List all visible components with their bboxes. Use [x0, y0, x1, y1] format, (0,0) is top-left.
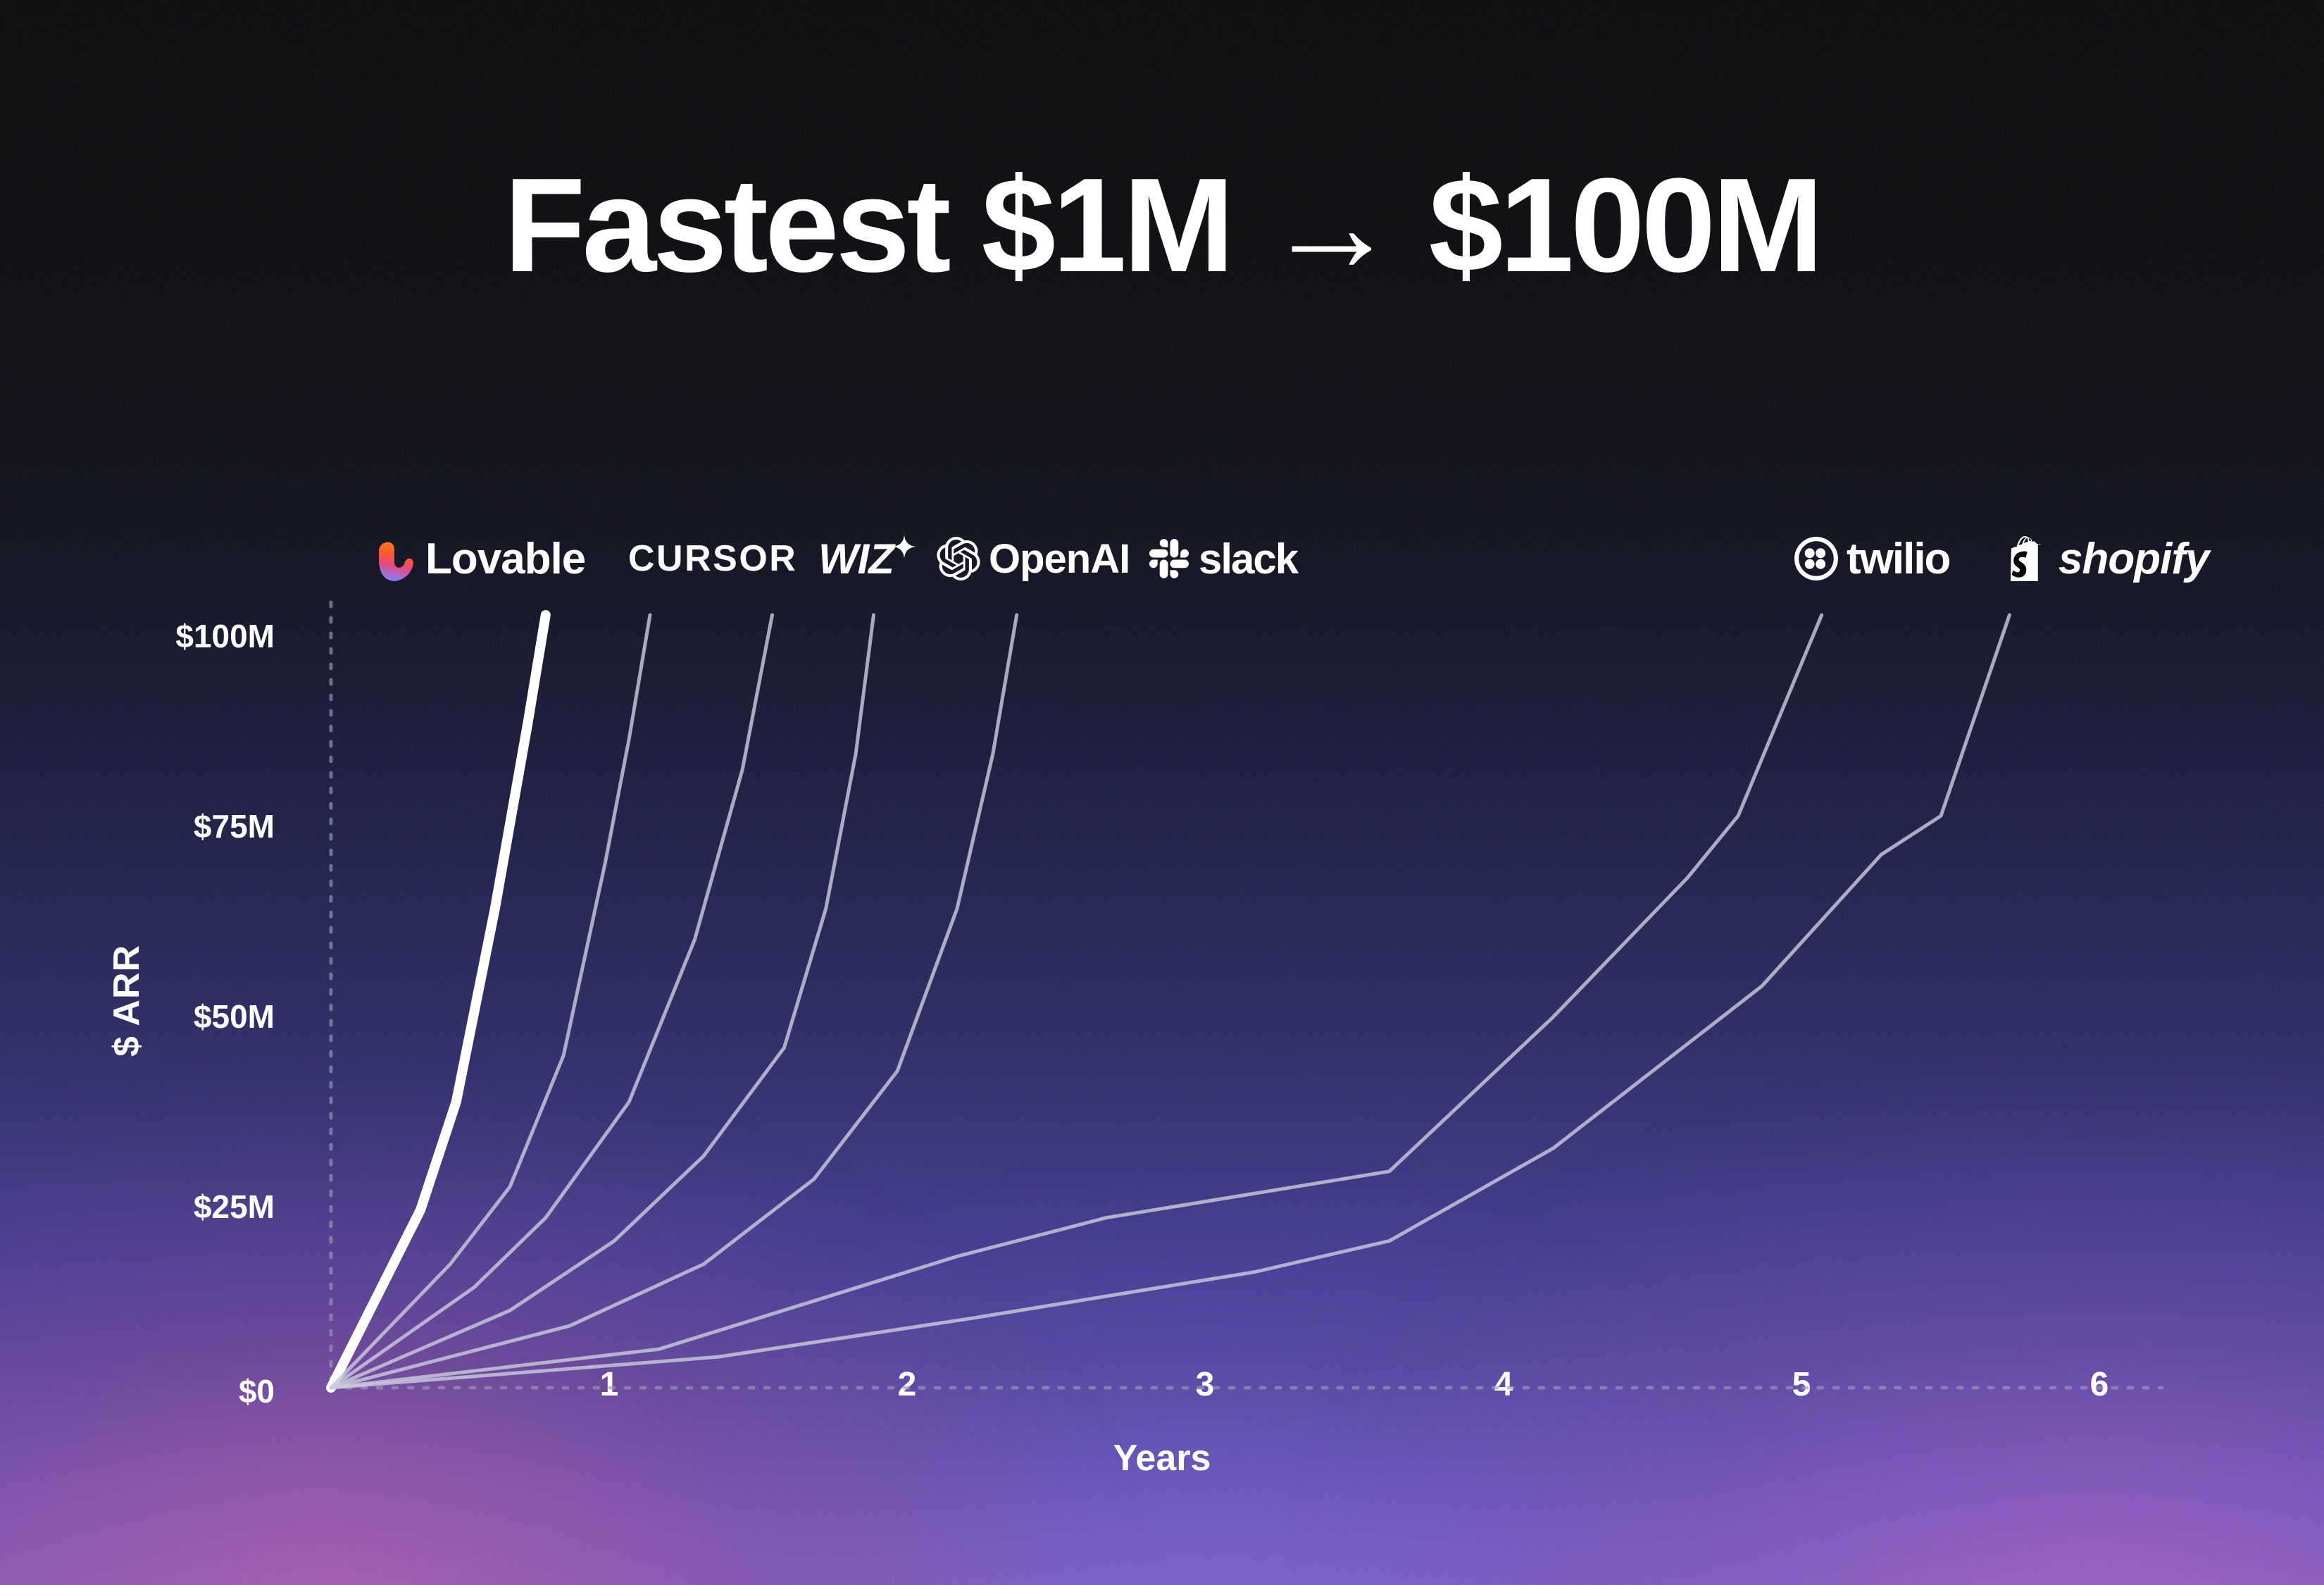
series-line-twilio — [331, 615, 1822, 1388]
gridlines — [331, 602, 2162, 1388]
chart-plot-area — [0, 0, 2324, 1585]
chart-canvas: Fastest $1M → $100M Lovable — [0, 0, 2324, 1585]
series-line-openai — [331, 615, 874, 1388]
series-line-wiz — [331, 615, 773, 1388]
series-line-shopify — [331, 615, 2009, 1388]
series-line-lovable — [331, 615, 546, 1388]
series-lines — [331, 615, 2009, 1388]
series-line-slack — [331, 615, 1017, 1388]
